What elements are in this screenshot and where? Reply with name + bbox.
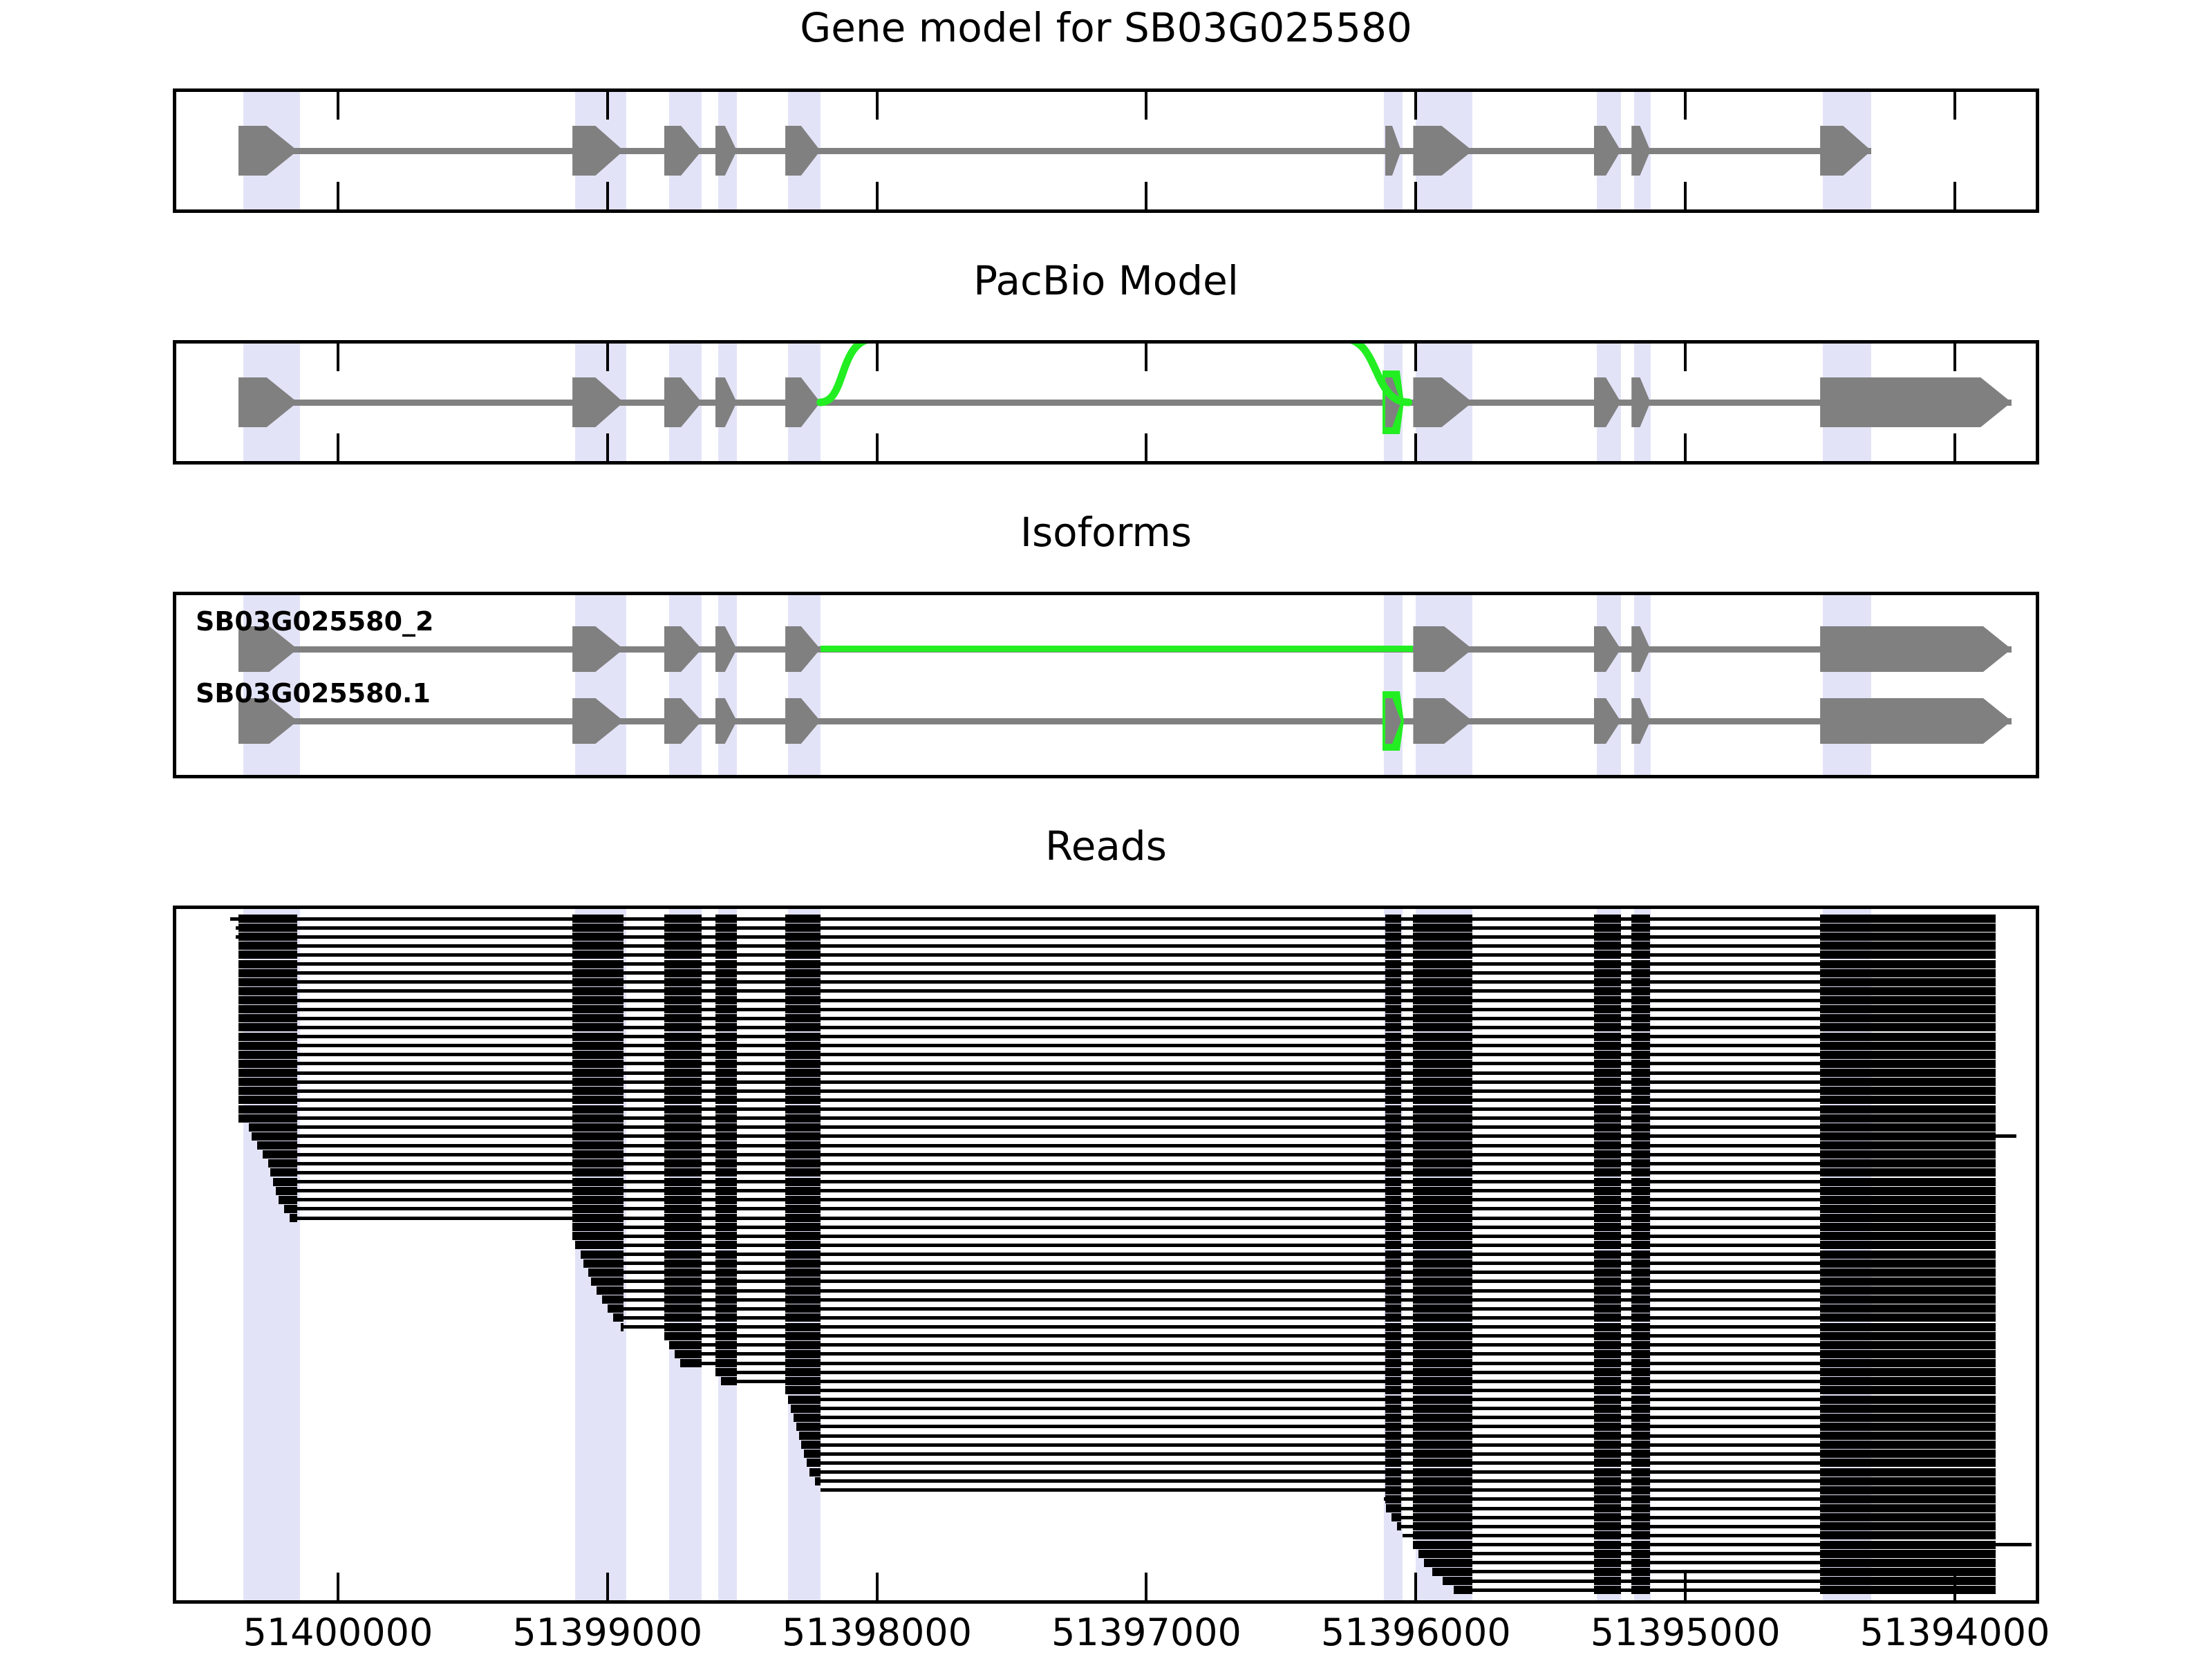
read-exon-block-3 xyxy=(715,1268,737,1277)
read-exon-block-0 xyxy=(238,987,298,995)
read-exon-block-1 xyxy=(572,1114,624,1123)
read-exon-block-7 xyxy=(1594,996,1621,1004)
read-exon-block-0 xyxy=(276,1187,297,1195)
read-exon-block-9 xyxy=(1820,987,1995,995)
read-exon-block-4 xyxy=(785,1323,821,1331)
read-exon-block-2 xyxy=(664,1277,702,1286)
read-exon-block-7 xyxy=(1594,1096,1621,1104)
read-exon-block-8 xyxy=(1631,1295,1650,1304)
read-exon-block-4 xyxy=(785,1350,821,1358)
read-row xyxy=(176,1304,2036,1313)
read-exon-block-0 xyxy=(252,1132,297,1141)
gene-model-axes xyxy=(173,88,2039,213)
read-exon-block-1 xyxy=(572,1096,624,1104)
read-exon-block-1 xyxy=(572,915,624,923)
read-exon-block-4 xyxy=(785,1386,821,1394)
read-exon-block-0 xyxy=(263,1150,298,1159)
read-exon-block-4 xyxy=(785,1105,821,1114)
read-intron-line xyxy=(290,1217,1996,1220)
read-exon-block-3 xyxy=(715,1214,737,1222)
read-exon-block-3 xyxy=(715,1105,737,1114)
read-exon-block-4 xyxy=(785,1205,821,1213)
read-exon-block-9 xyxy=(1820,1042,1995,1050)
read-exon-block-5 xyxy=(1385,1223,1401,1231)
read-exon-block-7 xyxy=(1594,1232,1621,1240)
read-row xyxy=(176,1087,2036,1095)
axis-tick-top-2 xyxy=(876,92,879,120)
read-row xyxy=(176,1396,2036,1404)
read-exon-block-3 xyxy=(715,1304,737,1313)
read-exon-block-8 xyxy=(1631,1522,1650,1530)
read-exon-block-8 xyxy=(1631,1405,1650,1413)
read-exon-block-9 xyxy=(1820,1477,1995,1485)
read-exon-block-3 xyxy=(715,1205,737,1213)
read-exon-block-9 xyxy=(1820,1286,1995,1295)
read-row xyxy=(176,1513,2036,1521)
read-exon-block-4 xyxy=(785,1250,821,1259)
read-exon-block-6 xyxy=(1413,932,1472,941)
read-exon-block-2 xyxy=(664,1196,702,1204)
read-exon-block-8 xyxy=(1631,1114,1650,1123)
read-row xyxy=(176,1568,2036,1576)
read-exon-block-8 xyxy=(1631,1586,1650,1594)
read-exon-block-9 xyxy=(1820,1114,1995,1123)
read-exon-block-9 xyxy=(1820,1359,1995,1367)
read-row xyxy=(176,1114,2036,1123)
read-row xyxy=(176,915,2036,923)
read-exon-block-5 xyxy=(1385,960,1401,968)
read-row xyxy=(176,1250,2036,1259)
read-exon-block-2 xyxy=(664,1141,702,1150)
read-exon-block-7 xyxy=(1594,1541,1621,1549)
pacbio-model-axes xyxy=(173,340,2039,465)
read-exon-block-9 xyxy=(1820,969,1995,977)
read-exon-block-2 xyxy=(664,1268,702,1277)
read-exon-block-9 xyxy=(1820,1450,1995,1458)
read-exon-block-9 xyxy=(1820,1051,1995,1059)
read-exon-block-1 xyxy=(572,1150,624,1159)
read-exon-block-0 xyxy=(238,960,298,968)
read-exon-block-8 xyxy=(1631,1368,1650,1376)
read-row xyxy=(176,1313,2036,1322)
read-exon-block-4 xyxy=(785,1359,821,1367)
read-exon-block-8 xyxy=(1631,1286,1650,1295)
read-exon-block-6 xyxy=(1432,1568,1472,1576)
read-exon-block-3 xyxy=(715,1223,737,1231)
read-exon-block-4 xyxy=(815,1477,821,1485)
read-exon-block-8 xyxy=(1631,941,1650,950)
read-exon-block-0 xyxy=(238,1096,298,1104)
read-exon-block-4 xyxy=(791,1405,821,1413)
read-exon-block-5 xyxy=(1385,1042,1401,1050)
read-row xyxy=(176,1014,2036,1022)
read-exon-block-1 xyxy=(572,1214,624,1222)
read-exon-block-5 xyxy=(1385,1432,1401,1440)
read-exon-block-8 xyxy=(1631,1577,1650,1585)
read-intron-line xyxy=(238,1116,1996,1120)
read-intron-line xyxy=(230,917,1996,921)
read-exon-block-5 xyxy=(1385,1123,1401,1132)
read-exon-block-5 xyxy=(1385,1232,1401,1240)
read-exon-block-8 xyxy=(1631,1078,1650,1086)
read-exon-block-7 xyxy=(1594,1550,1621,1558)
read-row xyxy=(176,1132,2036,1141)
read-exon-block-4 xyxy=(785,1014,821,1022)
read-exon-block-3 xyxy=(715,950,737,959)
read-exon-block-9 xyxy=(1820,1468,1995,1477)
read-exon-block-9 xyxy=(1820,1241,1995,1249)
read-exon-block-8 xyxy=(1631,1450,1650,1458)
read-exon-block-4 xyxy=(785,1368,821,1376)
read-exon-block-4 xyxy=(785,915,821,923)
read-exon-block-9 xyxy=(1820,1168,1995,1177)
read-exon-block-9 xyxy=(1820,1504,1995,1512)
read-row xyxy=(176,1577,2036,1585)
read-exon-block-6 xyxy=(1413,1023,1472,1031)
read-exon-block-6 xyxy=(1413,1513,1472,1521)
read-row xyxy=(176,978,2036,986)
read-exon-block-3 xyxy=(715,1123,737,1132)
read-exon-block-8 xyxy=(1631,950,1650,959)
read-exon-block-8 xyxy=(1631,1051,1650,1059)
read-exon-block-9 xyxy=(1820,1205,1995,1213)
read-row xyxy=(176,1033,2036,1041)
read-exon-block-0 xyxy=(238,1033,298,1041)
read-exon-block-6 xyxy=(1443,1577,1472,1585)
read-row xyxy=(176,1559,2036,1567)
x-tick-label-5: 51395000 xyxy=(1547,1611,1824,1654)
read-exon-block-4 xyxy=(785,1232,821,1240)
read-exon-block-9 xyxy=(1820,1396,1995,1404)
read-exon-block-5 xyxy=(1385,1332,1401,1340)
read-exon-block-5 xyxy=(1385,1250,1401,1259)
read-exon-block-3 xyxy=(715,1259,737,1268)
read-exon-block-3 xyxy=(715,1232,737,1240)
read-exon-block-2 xyxy=(664,1295,702,1304)
read-exon-block-5 xyxy=(1385,1241,1401,1249)
read-exon-block-8 xyxy=(1631,1168,1650,1177)
read-exon-block-6 xyxy=(1413,1522,1472,1530)
read-exon-block-3 xyxy=(715,1241,737,1249)
read-exon-block-4 xyxy=(785,1313,821,1322)
read-exon-block-7 xyxy=(1594,1414,1621,1422)
read-row xyxy=(176,1223,2036,1231)
read-exon-block-1 xyxy=(572,1023,624,1031)
read-exon-block-6 xyxy=(1413,941,1472,950)
read-exon-block-7 xyxy=(1594,1396,1621,1404)
read-exon-block-1 xyxy=(572,1014,624,1022)
read-exon-block-8 xyxy=(1631,1386,1650,1394)
read-exon-block-8 xyxy=(1631,1277,1650,1286)
read-exon-block-5 xyxy=(1385,1486,1401,1494)
read-exon-block-9 xyxy=(1820,1223,1995,1231)
read-exon-block-1 xyxy=(613,1313,624,1322)
read-exon-block-9 xyxy=(1820,1423,1995,1431)
panel-title-reads: Reads xyxy=(0,823,2212,870)
read-exon-block-3 xyxy=(715,1323,737,1331)
read-exon-block-9 xyxy=(1820,950,1995,959)
read-exon-block-1 xyxy=(572,1159,624,1168)
read-exon-block-9 xyxy=(1820,1432,1995,1440)
read-intron-line xyxy=(669,1343,1995,1347)
read-exon-block-9 xyxy=(1820,1277,1995,1286)
read-row xyxy=(176,1550,2036,1558)
read-exon-block-5 xyxy=(1391,1513,1401,1521)
read-exon-block-1 xyxy=(572,1087,624,1095)
read-intron-line xyxy=(238,1017,1996,1020)
read-intron-line xyxy=(238,944,1996,948)
read-exon-block-8 xyxy=(1631,1468,1650,1477)
read-intron-line xyxy=(238,980,1996,984)
read-exon-block-6 xyxy=(1413,1295,1472,1304)
read-exon-block-8 xyxy=(1631,1241,1650,1249)
read-exon-block-6 xyxy=(1454,1586,1472,1594)
read-row xyxy=(176,1023,2036,1031)
read-exon-block-7 xyxy=(1594,1069,1621,1077)
read-exon-block-7 xyxy=(1594,1205,1621,1213)
read-exon-block-9 xyxy=(1820,1187,1995,1195)
read-intron-line xyxy=(664,1334,1996,1338)
read-exon-block-2 xyxy=(664,1323,702,1331)
read-exon-block-2 xyxy=(664,1105,702,1114)
read-exon-block-2 xyxy=(664,1250,702,1259)
read-exon-block-1 xyxy=(572,987,624,995)
read-row xyxy=(176,1214,2036,1222)
read-exon-block-5 xyxy=(1385,1295,1401,1304)
read-exon-block-7 xyxy=(1594,1105,1621,1114)
read-exon-block-5 xyxy=(1385,1286,1401,1295)
read-exon-block-6 xyxy=(1413,1477,1472,1485)
read-exon-block-8 xyxy=(1631,1423,1650,1431)
read-exon-block-9 xyxy=(1820,1531,1995,1539)
read-exon-block-8 xyxy=(1631,915,1650,923)
read-exon-block-2 xyxy=(664,1304,702,1313)
read-exon-block-8 xyxy=(1631,1313,1650,1322)
read-exon-block-3 xyxy=(715,1341,737,1349)
read-exon-block-2 xyxy=(664,1259,702,1268)
read-exon-block-9 xyxy=(1820,932,1995,941)
read-exon-block-8 xyxy=(1631,1495,1650,1503)
read-exon-block-5 xyxy=(1385,1368,1401,1376)
read-exon-block-7 xyxy=(1594,1386,1621,1394)
read-exon-block-7 xyxy=(1594,1023,1621,1031)
read-exon-block-3 xyxy=(715,969,737,977)
read-exon-block-6 xyxy=(1413,1105,1472,1114)
transcript-backbone-SB03G025580.1 xyxy=(238,718,2012,724)
read-exon-block-7 xyxy=(1594,950,1621,959)
read-exon-block-7 xyxy=(1594,1450,1621,1458)
read-exon-block-4 xyxy=(785,1141,821,1150)
read-exon-block-6 xyxy=(1418,1550,1472,1558)
read-intron-line xyxy=(238,1080,1996,1084)
axis-tick-bottom-3 xyxy=(1145,182,1147,209)
read-exon-block-8 xyxy=(1631,1123,1650,1132)
read-row xyxy=(176,987,2036,995)
read-exon-block-8 xyxy=(1631,1259,1650,1268)
read-exon-block-7 xyxy=(1594,1132,1621,1141)
read-exon-block-3 xyxy=(715,1359,737,1367)
read-exon-block-1 xyxy=(572,1042,624,1050)
read-exon-block-5 xyxy=(1385,1459,1401,1467)
read-exon-block-4 xyxy=(785,1042,821,1050)
read-exon-block-7 xyxy=(1594,1078,1621,1086)
read-row xyxy=(176,941,2036,950)
read-exon-block-7 xyxy=(1594,1332,1621,1340)
read-exon-block-8 xyxy=(1631,1568,1650,1576)
read-exon-block-7 xyxy=(1594,924,1621,932)
read-exon-block-3 xyxy=(715,1042,737,1050)
read-exon-block-1 xyxy=(572,941,624,950)
read-exon-block-2 xyxy=(664,1178,702,1186)
axis-tick-top-5 xyxy=(1684,92,1687,120)
read-exon-block-7 xyxy=(1594,1114,1621,1123)
read-exon-block-5 xyxy=(1385,1005,1401,1013)
read-exon-block-3 xyxy=(715,1051,737,1059)
read-exon-block-5 xyxy=(1385,1396,1401,1404)
read-exon-block-6 xyxy=(1413,1459,1472,1467)
read-exon-block-5 xyxy=(1385,1205,1401,1213)
read-exon-block-4 xyxy=(785,941,821,950)
read-exon-block-9 xyxy=(1820,1559,1995,1567)
read-exon-block-2 xyxy=(664,1313,702,1322)
read-exon-block-4 xyxy=(785,1196,821,1204)
highlight-band-3 xyxy=(718,595,737,775)
highlight-band-7 xyxy=(1597,595,1621,775)
read-exon-block-8 xyxy=(1631,1459,1650,1467)
read-row xyxy=(176,1468,2036,1477)
read-exon-block-5 xyxy=(1385,1313,1401,1322)
read-exon-block-4 xyxy=(785,1377,821,1385)
read-exon-block-8 xyxy=(1631,969,1650,977)
read-exon-block-8 xyxy=(1631,1341,1650,1349)
read-exon-block-1 xyxy=(572,1132,624,1141)
read-row xyxy=(176,1459,2036,1467)
read-exon-block-5 xyxy=(1385,1468,1401,1477)
read-intron-line xyxy=(675,1352,1995,1356)
read-exon-block-6 xyxy=(1413,915,1472,923)
read-exon-block-5 xyxy=(1385,1405,1401,1413)
read-exon-block-1 xyxy=(602,1295,624,1304)
read-exon-block-8 xyxy=(1631,1513,1650,1521)
read-row xyxy=(176,1432,2036,1440)
read-exon-block-5 xyxy=(1385,996,1401,1004)
read-intron-line xyxy=(238,1089,1996,1093)
read-exon-block-9 xyxy=(1820,1586,1995,1594)
read-exon-block-1 xyxy=(572,932,624,941)
x-tick-label-1: 51399000 xyxy=(469,1611,746,1654)
read-exon-block-4 xyxy=(785,987,821,995)
read-exon-block-6 xyxy=(1413,1259,1472,1268)
read-exon-block-7 xyxy=(1594,1286,1621,1295)
read-intron-line xyxy=(809,1470,1995,1474)
read-exon-block-5 xyxy=(1385,932,1401,941)
read-exon-block-3 xyxy=(715,1286,737,1295)
read-intron-line xyxy=(721,1380,1996,1383)
read-exon-block-2 xyxy=(664,1223,702,1231)
read-exon-block-7 xyxy=(1594,1178,1621,1186)
read-exon-block-6 xyxy=(1413,1323,1472,1331)
read-exon-block-7 xyxy=(1594,1459,1621,1467)
read-row xyxy=(176,969,2036,977)
read-exon-block-8 xyxy=(1631,1396,1650,1404)
read-exon-block-1 xyxy=(572,1168,624,1177)
read-row xyxy=(176,1069,2036,1077)
read-exon-block-4 xyxy=(785,1332,821,1340)
read-exon-block-5 xyxy=(1385,941,1401,950)
read-exon-block-0 xyxy=(238,969,298,977)
read-exon-block-6 xyxy=(1413,1268,1472,1277)
read-exon-block-6 xyxy=(1413,1205,1472,1213)
axis-tick-top-3 xyxy=(1145,92,1147,120)
read-exon-block-0 xyxy=(238,978,298,986)
read-exon-block-7 xyxy=(1594,960,1621,968)
read-exon-block-6 xyxy=(1413,1486,1472,1494)
read-exon-block-5 xyxy=(1385,1304,1401,1313)
highlight-band-2 xyxy=(669,595,702,775)
read-exon-block-3 xyxy=(715,1087,737,1095)
read-exon-block-9 xyxy=(1820,1069,1995,1077)
read-exon-block-5 xyxy=(1385,1141,1401,1150)
read-exon-block-0 xyxy=(238,1114,298,1123)
read-exon-block-6 xyxy=(1413,1541,1472,1549)
read-exon-block-4 xyxy=(785,978,821,986)
read-exon-block-8 xyxy=(1631,1377,1650,1385)
read-intron-line xyxy=(257,1144,1996,1147)
read-exon-block-7 xyxy=(1594,1250,1621,1259)
read-row xyxy=(176,1450,2036,1458)
read-exon-block-4 xyxy=(785,1259,821,1268)
read-exon-block-5 xyxy=(1385,1168,1401,1177)
read-exon-block-3 xyxy=(715,932,737,941)
read-exon-block-3 xyxy=(715,1033,737,1041)
read-row xyxy=(176,1441,2036,1449)
read-intron-line xyxy=(238,1044,1996,1047)
read-exon-block-9 xyxy=(1820,1087,1995,1095)
read-exon-block-1 xyxy=(597,1286,624,1295)
read-exon-block-6 xyxy=(1413,1232,1472,1240)
read-exon-block-9 xyxy=(1820,1414,1995,1422)
read-exon-block-0 xyxy=(238,932,298,941)
read-exon-block-5 xyxy=(1385,1069,1401,1077)
read-exon-block-7 xyxy=(1594,1513,1621,1521)
read-exon-block-9 xyxy=(1820,1459,1995,1467)
read-exon-block-0 xyxy=(279,1196,297,1204)
read-exon-block-7 xyxy=(1594,1432,1621,1440)
read-row xyxy=(176,1350,2036,1358)
read-exon-block-0 xyxy=(238,1087,298,1095)
read-exon-block-7 xyxy=(1594,1559,1621,1567)
read-exon-block-1 xyxy=(591,1277,624,1286)
read-exon-block-9 xyxy=(1820,1150,1995,1159)
read-exon-block-5 xyxy=(1385,978,1401,986)
isoform-label-0: SB03G025580_2 xyxy=(196,606,434,637)
read-exon-block-8 xyxy=(1631,1531,1650,1539)
read-intron-line xyxy=(270,1171,1995,1174)
read-exon-block-7 xyxy=(1594,1042,1621,1050)
highlight-band-1 xyxy=(575,595,626,775)
read-exon-block-9 xyxy=(1820,1232,1995,1240)
read-exon-block-6 xyxy=(1413,1096,1472,1104)
read-exon-block-8 xyxy=(1631,1096,1650,1104)
read-exon-block-8 xyxy=(1631,1187,1650,1195)
read-exon-block-4 xyxy=(796,1423,821,1431)
read-exon-block-4 xyxy=(785,1051,821,1059)
read-intron-line xyxy=(238,953,1996,957)
read-exon-block-6 xyxy=(1413,1114,1472,1123)
read-exon-block-2 xyxy=(664,1150,702,1159)
read-exon-block-0 xyxy=(290,1214,298,1222)
read-exon-block-9 xyxy=(1820,1541,1995,1549)
